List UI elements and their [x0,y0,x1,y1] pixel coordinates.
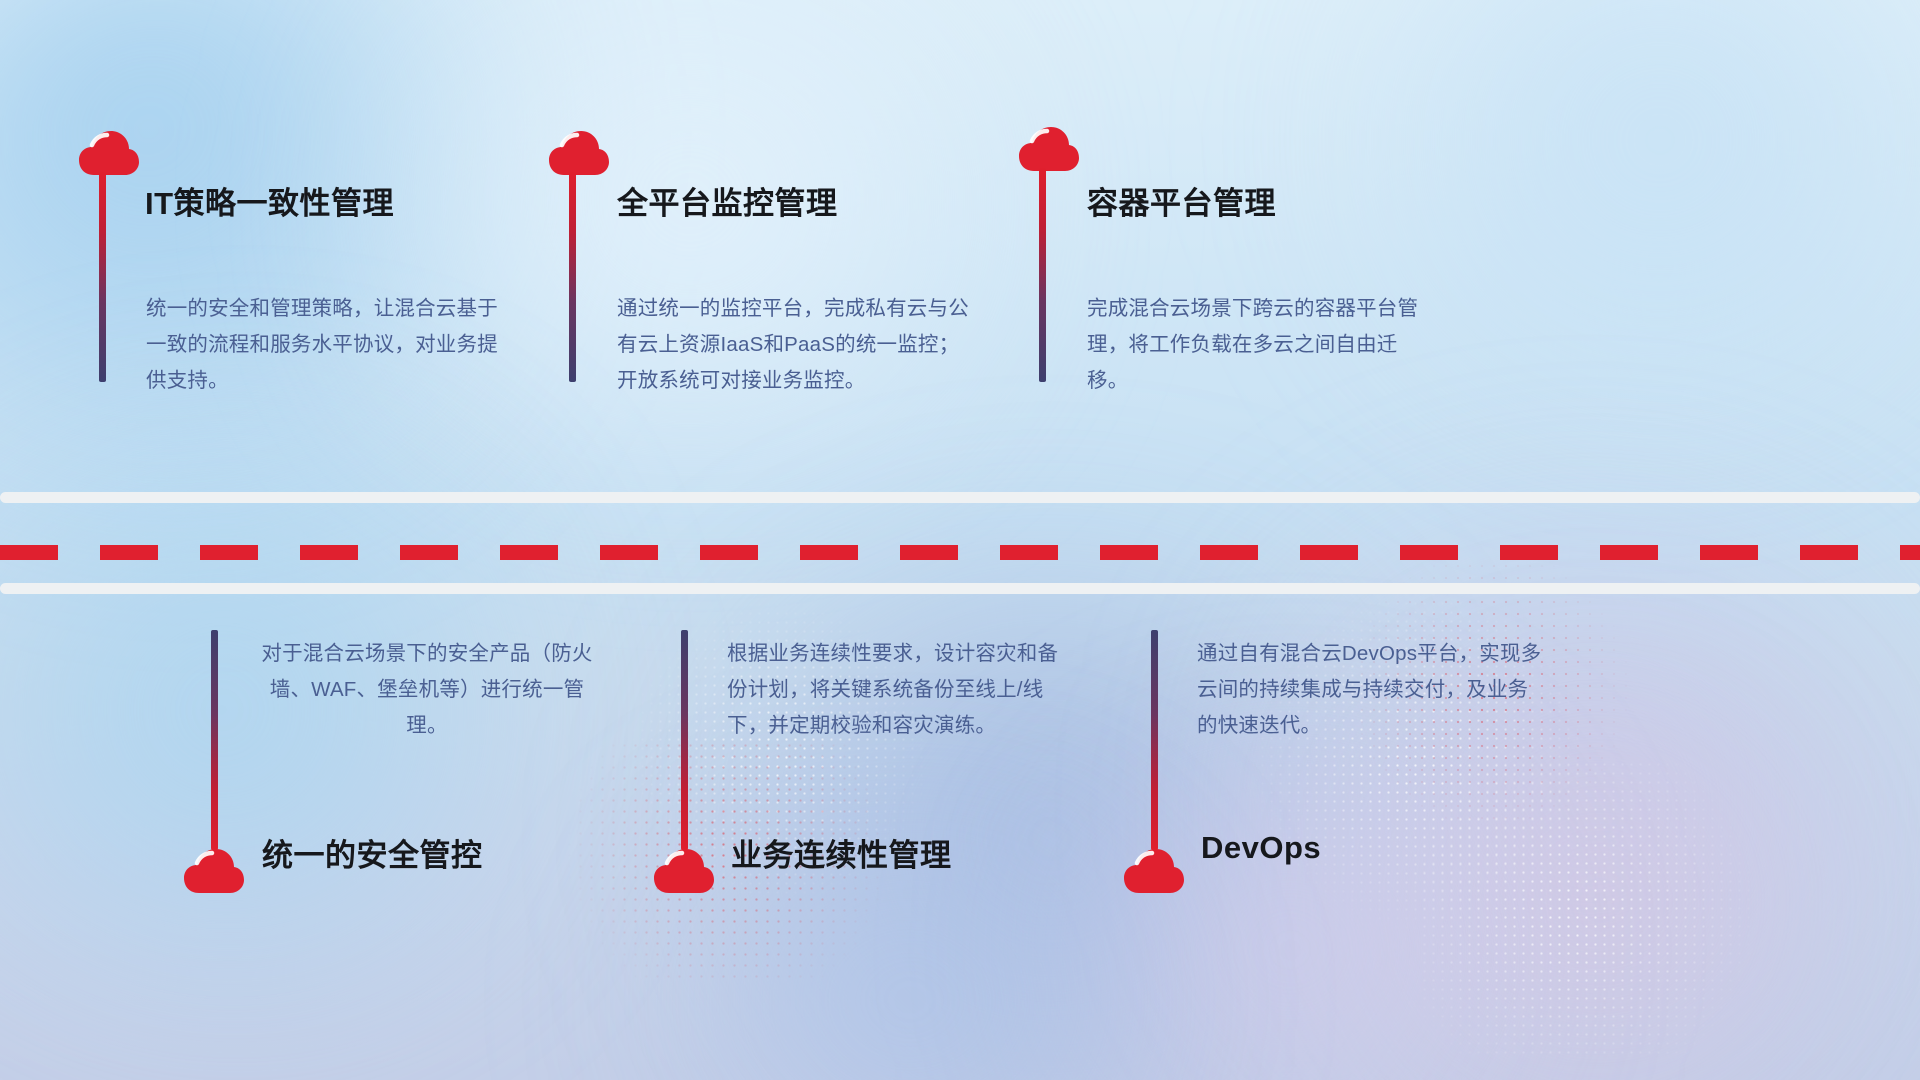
milestone-stem [569,172,576,382]
road-edge-line-bottom [0,583,1920,594]
milestone-body: 根据业务连续性要求，设计容灾和备份计划，将关键系统备份至线上/线下，并定期校验和… [727,636,1077,744]
milestone-stem [681,630,688,850]
infographic-stage: IT策略一致性管理 统一的安全和管理策略，让混合云基于一致的流程和服务水平协议，… [0,0,1920,1080]
milestone-body: 完成混合云场景下跨云的容器平台管理，将工作负载在多云之间自由迁移。 [1087,291,1437,399]
cloud-pin-icon [548,130,610,176]
cloud-pin-icon [1018,126,1080,172]
milestone-title: 统一的安全管控 [262,830,483,875]
milestone-body: 通过自有混合云DevOps平台，实现多云间的持续集成与持续交付，及业务的快速迭代… [1197,636,1547,744]
cloud-pin-icon [183,848,245,894]
milestone-stem [1151,630,1158,850]
cloud-pin-icon [78,130,140,176]
milestone-stem [1039,168,1046,382]
cloud-pin-icon [653,848,715,894]
milestone-body: 对于混合云场景下的安全产品（防火墙、WAF、堡垒机等）进行统一管理。 [252,636,602,744]
milestone-title: 业务连续性管理 [731,830,952,875]
milestone-body: 统一的安全和管理策略，让混合云基于一致的流程和服务水平协议，对业务提供支持。 [146,291,506,399]
milestone-title: 全平台监控管理 [617,178,838,223]
milestone-title: DevOps [1201,830,1321,866]
milestone-body: 通过统一的监控平台，完成私有云与公有云上资源IaaS和PaaS的统一监控；开放系… [617,291,977,399]
road-center-dashes [0,545,1920,560]
road-edge-line-top [0,492,1920,503]
cloud-pin-icon [1123,848,1185,894]
milestone-title: IT策略一致性管理 [145,178,394,223]
milestone-stem [99,172,106,382]
milestone-stem [211,630,218,850]
milestone-title: 容器平台管理 [1087,178,1276,223]
